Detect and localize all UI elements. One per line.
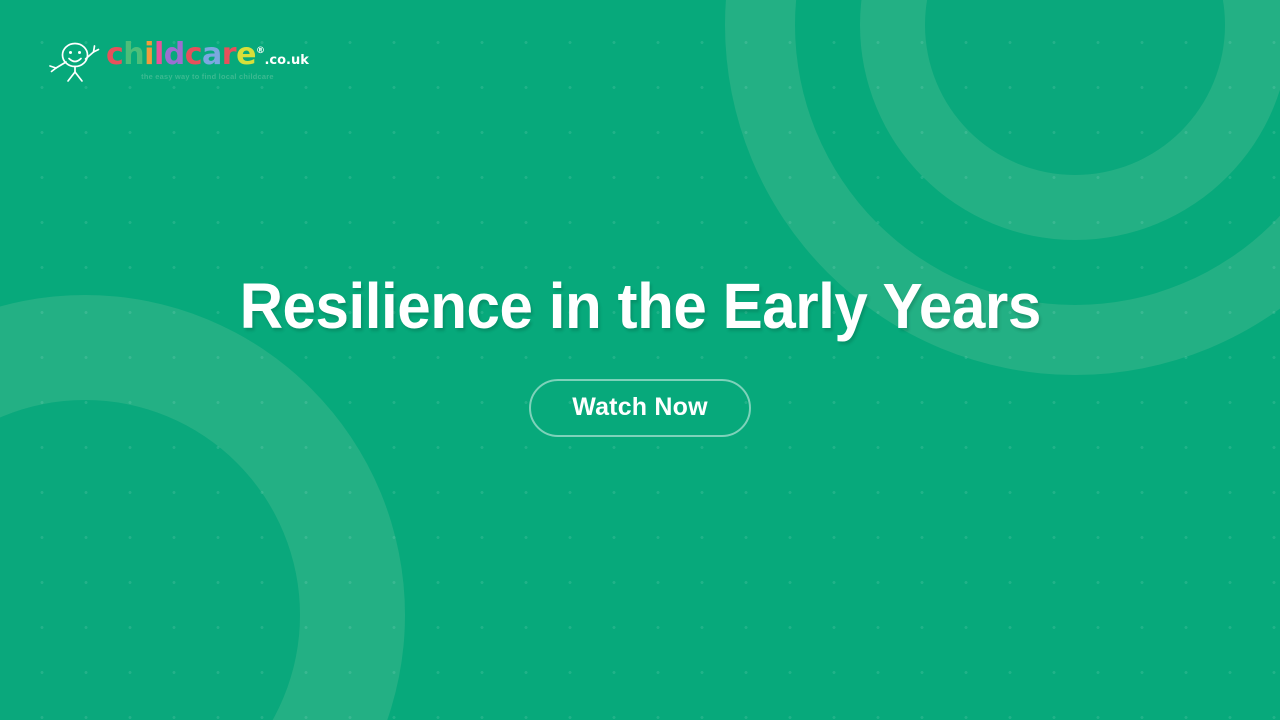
watch-now-button[interactable]: Watch Now [529,379,751,437]
hero-content: Resilience in the Early Years Watch Now [0,0,1280,720]
video-hero-slide: childcare®.co.uk the easy way to find lo… [0,0,1280,720]
page-title: Resilience in the Early Years [239,273,1040,340]
